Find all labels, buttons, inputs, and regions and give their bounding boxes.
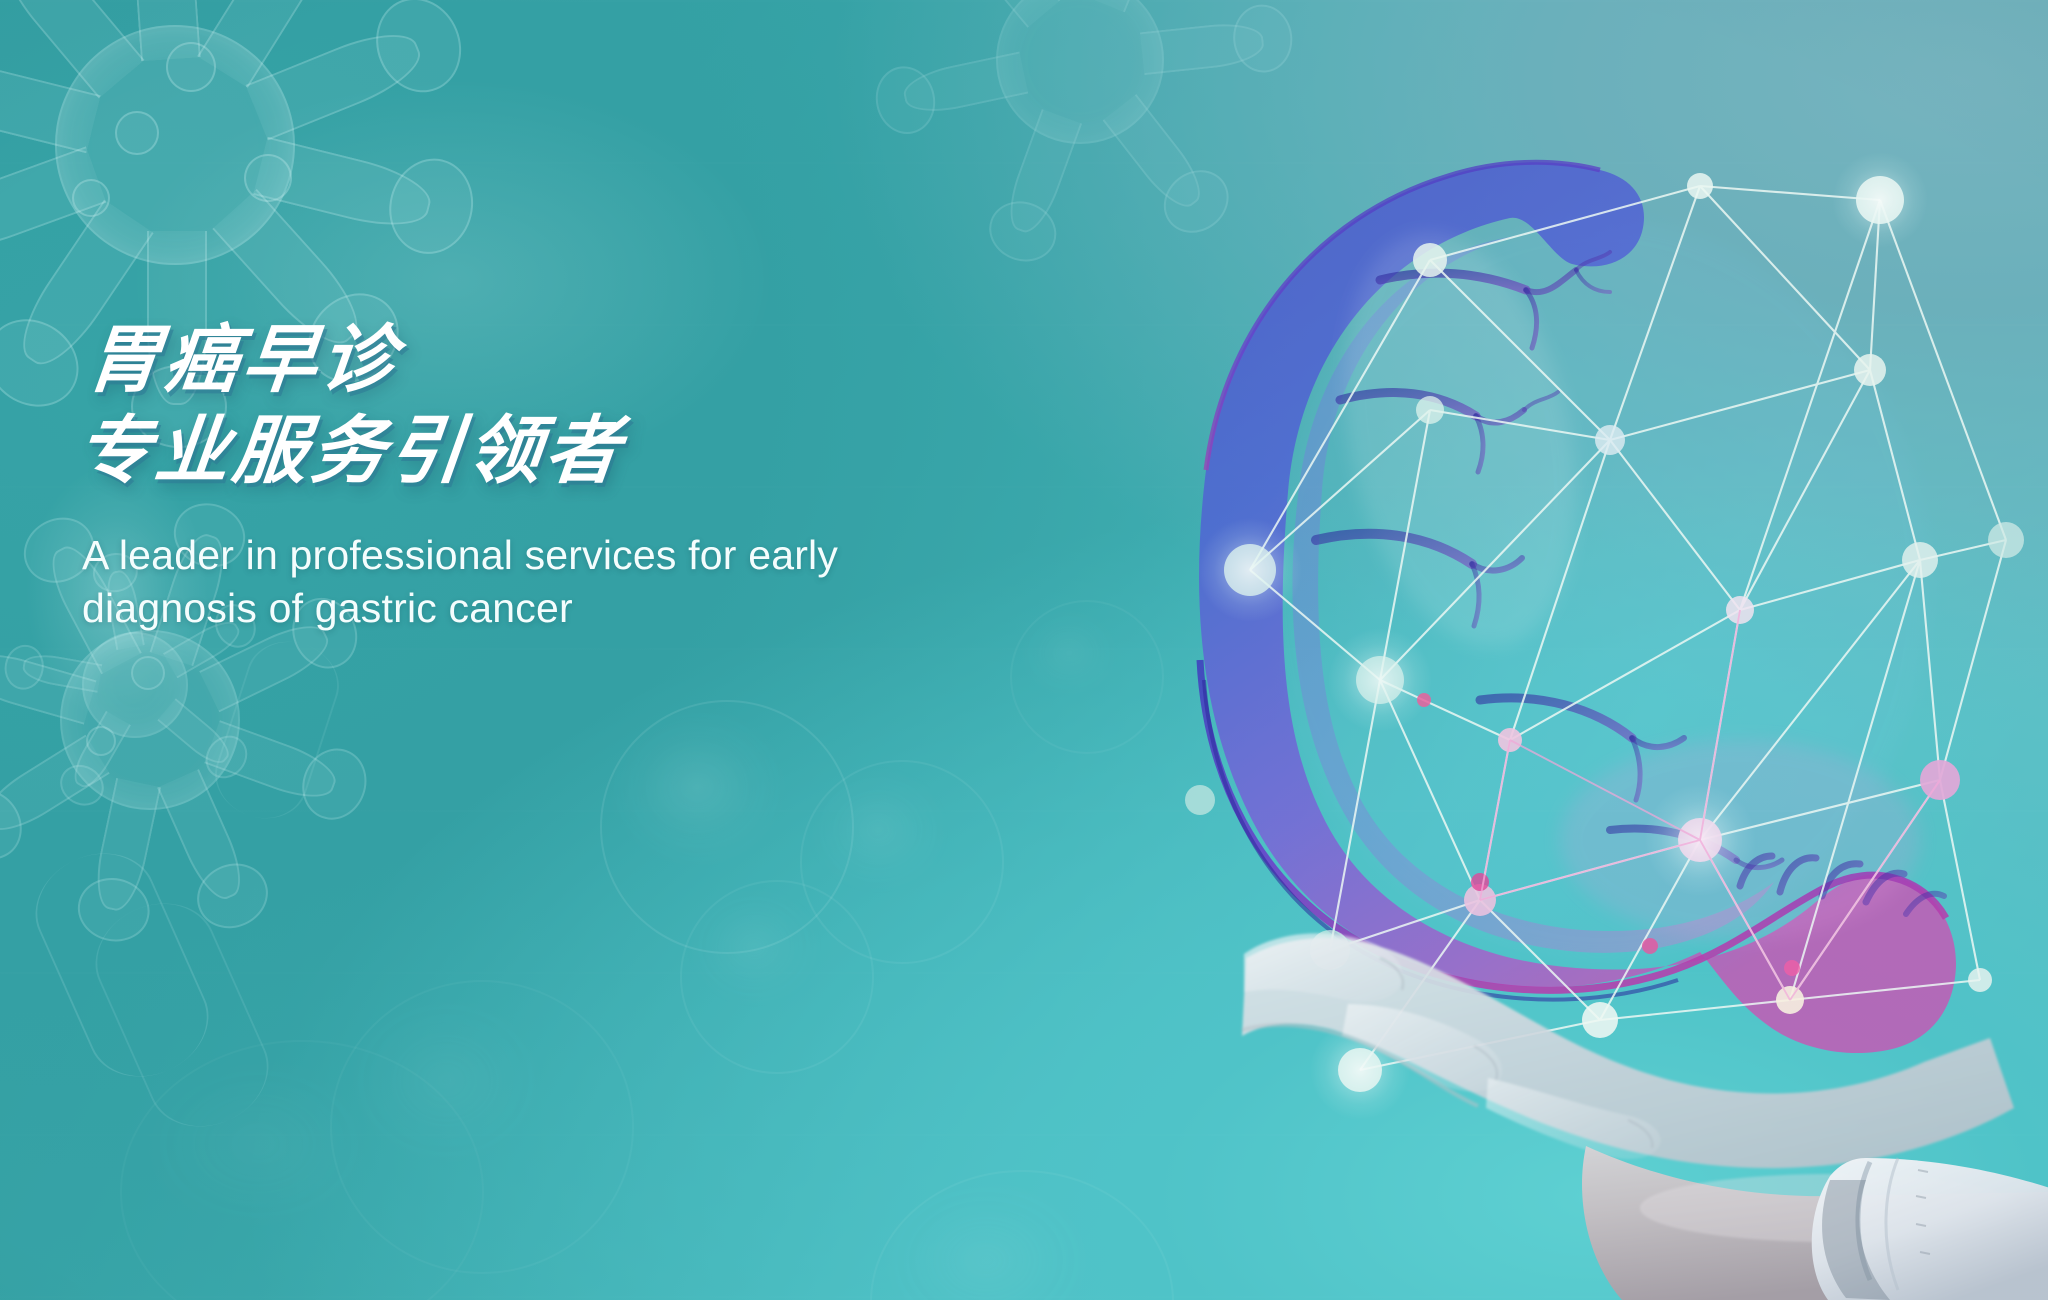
forearm xyxy=(1582,1146,2048,1300)
network-node xyxy=(1356,656,1404,704)
virus-surface-dot xyxy=(244,154,292,202)
lab-coat-shadow xyxy=(1822,1180,1890,1300)
organ-sheen xyxy=(1560,740,1920,940)
stomach-network-graphic xyxy=(1180,140,2040,1150)
hand-graphic xyxy=(1230,840,2048,1300)
network-node xyxy=(1776,986,1804,1014)
lab-coat-cuff-fold xyxy=(1886,1158,1898,1290)
network-edges xyxy=(1250,186,2006,1070)
network-node xyxy=(1687,173,1713,199)
network-node xyxy=(1464,884,1496,916)
network-node-glow xyxy=(1310,1020,1410,1120)
network-node xyxy=(1413,243,1447,277)
virus-watermark-topleft xyxy=(0,0,390,360)
network-node xyxy=(1595,425,1625,455)
network-node xyxy=(1582,1002,1618,1038)
stomach-rim xyxy=(1206,162,1600,470)
network-node-glow xyxy=(1328,628,1432,732)
virus-spike xyxy=(900,51,1028,118)
network-node xyxy=(1678,818,1722,862)
network-accent-node xyxy=(1642,938,1658,954)
network-accent-node xyxy=(1471,873,1489,891)
stomach-vasculature xyxy=(1316,252,1944,914)
network-node xyxy=(1726,596,1754,624)
network-node xyxy=(1338,1048,1382,1092)
network-edges-accent xyxy=(1480,610,1940,1000)
network-accent-nodes xyxy=(1417,693,1800,976)
headline-line-1: 胃癌早诊 xyxy=(83,322,991,397)
network-node xyxy=(1185,785,1215,815)
organ-sheen xyxy=(1309,212,1612,669)
hand-thumb xyxy=(1242,1025,1478,1106)
network-node xyxy=(1498,728,1522,752)
stomach-organ xyxy=(1199,162,1956,1053)
virus-surface-dot xyxy=(115,111,159,155)
network-node-glow xyxy=(1832,152,1928,248)
organ-halo xyxy=(1270,220,1930,960)
network-node xyxy=(1416,396,1444,424)
network-accent-node xyxy=(1784,960,1800,976)
network-nodes xyxy=(1185,152,2024,1120)
headline-line-2: 专业服务引领者 xyxy=(73,413,981,488)
cell-watermark xyxy=(680,880,874,1074)
stomach-rim-lower-accent xyxy=(1204,680,1678,1000)
hand-finger xyxy=(1486,1078,1660,1159)
stomach-rim-lower xyxy=(1200,660,1946,990)
network-node xyxy=(1310,930,1350,970)
hand-palm xyxy=(1242,938,2014,1168)
network-node xyxy=(1856,176,1904,224)
network-node-glow xyxy=(1644,784,1756,896)
network-node xyxy=(1854,354,1886,386)
subtitle-line-2: diagnosis of gastric cancer xyxy=(82,582,882,635)
network-node xyxy=(1224,544,1276,596)
open-hand xyxy=(1242,933,2014,1168)
virus-spike xyxy=(1139,20,1265,76)
network-accent-node xyxy=(1417,693,1431,707)
cell-watermark xyxy=(1010,600,1164,754)
virus-watermark-topmid xyxy=(930,0,1230,210)
hero-text-block: 胃癌早诊 专业服务引领者 A leader in professional se… xyxy=(82,322,982,636)
network-node xyxy=(1920,760,1960,800)
virus-surface-dot xyxy=(72,179,110,217)
virus-surface-dot xyxy=(166,42,216,92)
cell-watermark xyxy=(870,1170,1174,1300)
page-title: 胃癌早诊 专业服务引领者 xyxy=(73,322,991,489)
hand-creases xyxy=(1380,958,1652,1148)
hand-finger xyxy=(1342,1004,1502,1092)
hero-banner: 胃癌早诊 专业服务引领者 A leader in professional se… xyxy=(0,0,2048,1300)
stomach-outline xyxy=(1199,162,1956,1053)
network-node xyxy=(1902,542,1938,578)
page-subtitle: A leader in professional services for ea… xyxy=(82,529,882,636)
network-node xyxy=(1988,522,2024,558)
lab-coat-stitching xyxy=(1916,1170,1930,1254)
lab-coat-sleeve xyxy=(1812,1158,2048,1300)
hand-finger xyxy=(1244,933,1403,1002)
virus-spike xyxy=(1000,109,1082,238)
network-node xyxy=(1968,968,1992,992)
stomach-inner-fill xyxy=(1292,236,1774,953)
subtitle-line-1: A leader in professional services for ea… xyxy=(82,529,882,582)
lab-coat-cuff-fold xyxy=(1858,1162,1870,1280)
forearm-highlight xyxy=(1640,1174,2020,1242)
network-node-glow xyxy=(1198,518,1302,622)
virus-spike xyxy=(1102,94,1211,217)
